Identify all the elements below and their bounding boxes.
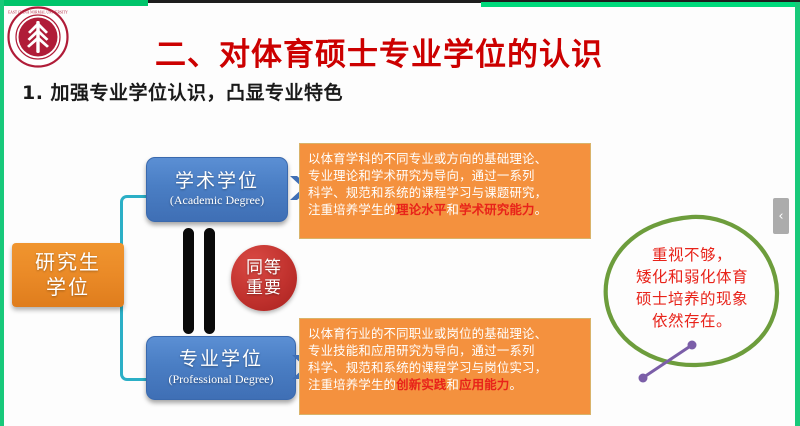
highlighted-term: 应用能力	[459, 377, 509, 392]
annotation-note-text: 重视不够，矮化和弱化体育硕士培养的现象依然存在。	[612, 228, 772, 348]
description-line: 科学、规范和系统的课程学习与课题研究，	[308, 185, 584, 202]
plain-text: 。	[535, 202, 548, 217]
plain-text: 科学、规范和系统的课程学习与课题研究，	[308, 185, 547, 200]
description-line: 专业技能和应用研究为导向，通过一系列	[308, 343, 584, 360]
description-line: 以体育学科的不同专业或方向的基础理论、	[308, 151, 584, 168]
node-graduate-line2: 学位	[46, 275, 90, 300]
plain-text: 专业技能和应用研究为导向，通过一系列	[308, 343, 535, 358]
node-academic-cn: 学术学位	[175, 171, 259, 193]
description-line: 以体育行业的不同职业或岗位的基础理论、	[308, 326, 584, 343]
equals-bar-left	[183, 228, 194, 334]
badge-line1: 同等	[246, 258, 282, 278]
plain-text: 以体育学科的不同专业或方向的基础理论、	[308, 151, 547, 166]
highlighted-term: 理论水平	[396, 202, 446, 217]
description-academic-degree: 以体育学科的不同专业或方向的基础理论、专业理论和学术研究为导向，通过一系列科学、…	[299, 143, 591, 239]
node-professional-cn: 专业学位	[179, 349, 263, 371]
description-professional-degree: 以体育行业的不同职业或岗位的基础理论、专业技能和应用研究为导向，通过一系列科学、…	[299, 318, 591, 415]
node-academic-en: (Academic Degree)	[170, 193, 264, 208]
annotation-line: 依然存在。	[612, 310, 772, 332]
section-subtitle: 1. 加强专业学位认识，凸显专业特色	[22, 78, 343, 105]
highlighted-term: 学术研究能力	[459, 202, 535, 217]
university-logo-icon: EAST CHINA NORMAL UNIVERSITY	[7, 6, 69, 68]
description-line: 科学、规范和系统的课程学习与岗位实习，	[308, 360, 584, 377]
annotation-line: 矮化和弱化体育	[612, 266, 772, 288]
description-line: 注重培养学生的理论水平和学术研究能力。	[308, 202, 584, 219]
plain-text: 。	[509, 377, 522, 392]
slide-canvas: EAST CHINA NORMAL UNIVERSITY 二、对体育硕士专业学位…	[0, 0, 800, 426]
page-title: 二、对体育硕士专业学位的认识	[155, 31, 675, 79]
equals-bar-right	[204, 228, 215, 334]
equal-importance-badge: 同等 重要	[231, 245, 297, 311]
description-line: 专业理论和学术研究为导向，通过一系列	[308, 168, 584, 185]
plain-text: 和	[447, 202, 460, 217]
annotation-leader-line	[634, 340, 700, 386]
frame-right-edge	[795, 2, 800, 426]
plain-text: 科学、规范和系统的课程学习与岗位实习，	[308, 360, 547, 375]
previous-slide-button[interactable]: ‹	[773, 198, 789, 234]
plain-text: 注重培养学生的	[308, 377, 396, 392]
chevron-left-icon: ‹	[778, 209, 783, 224]
node-graduate-degree[interactable]: 研究生 学位	[12, 243, 124, 307]
svg-text:EAST CHINA NORMAL UNIVERSITY: EAST CHINA NORMAL UNIVERSITY	[8, 10, 68, 14]
highlighted-term: 创新实践	[396, 377, 446, 392]
node-professional-degree[interactable]: 专业学位 (Professional Degree)	[146, 336, 296, 400]
plain-text: 以体育行业的不同职业或岗位的基础理论、	[308, 326, 547, 341]
node-professional-en: (Professional Degree)	[169, 372, 274, 387]
badge-line2: 重要	[246, 278, 282, 298]
annotation-line: 重视不够，	[612, 244, 772, 266]
plain-text: 注重培养学生的	[308, 202, 396, 217]
plain-text: 和	[447, 377, 460, 392]
node-graduate-line1: 研究生	[35, 250, 101, 275]
plain-text: 专业理论和学术研究为导向，通过一系列	[308, 168, 535, 183]
frame-top-right-accent	[481, 2, 800, 7]
frame-left-edge	[0, 0, 4, 426]
annotation-line: 硕士培养的现象	[612, 288, 772, 310]
description-line: 注重培养学生的创新实践和应用能力。	[308, 377, 584, 394]
node-academic-degree[interactable]: 学术学位 (Academic Degree)	[146, 157, 288, 222]
